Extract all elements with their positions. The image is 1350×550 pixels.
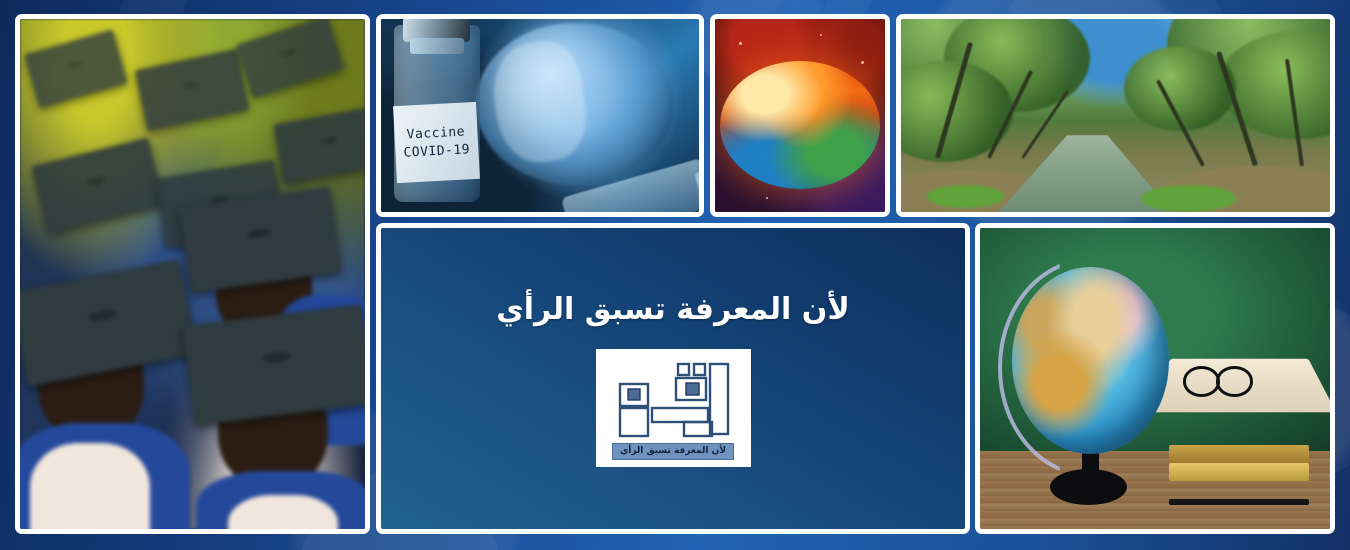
image-panel-globe-and-books[interactable] (975, 223, 1335, 534)
logo-tagline: لأن المعرفة تسبق الرأي (612, 443, 734, 460)
vial-label-line1: Vaccine (407, 124, 466, 142)
mortarboard-cap (236, 16, 345, 99)
graduation-figures (20, 19, 365, 529)
reading-glasses-icon (1183, 366, 1253, 390)
mortarboard-cap (135, 49, 250, 131)
image-panel-forest-river[interactable] (896, 14, 1335, 217)
logo-mark (614, 362, 732, 440)
logo[interactable]: لأن المعرفة تسبق الرأي (596, 349, 751, 467)
book (1169, 481, 1309, 501)
grass-patch (927, 185, 1004, 208)
brand-panel: لأن المعرفة تسبق الرأي (376, 223, 970, 534)
book-stack (1169, 439, 1309, 505)
vial-neck (410, 38, 464, 53)
image-panel-covid-vaccine[interactable]: Vaccine COVID-19 (376, 14, 704, 217)
book (1169, 445, 1309, 463)
vial-label-line2: COVID-19 (403, 142, 470, 160)
book (1169, 463, 1309, 481)
graduation-stole (228, 495, 338, 534)
page-title: لأن المعرفة تسبق الرأي (496, 290, 849, 331)
star (739, 42, 742, 45)
mortarboard-cap (24, 29, 128, 108)
grass-patch (1141, 185, 1235, 212)
image-panel-graduation[interactable] (15, 14, 370, 534)
mortarboard-cap (274, 106, 370, 183)
logo-glyph-icon (614, 362, 732, 440)
mortarboard-cap (15, 259, 198, 386)
mortarboard-cap (31, 138, 164, 235)
star (766, 197, 768, 199)
burning-earth-globe (720, 61, 880, 188)
banner-stage: Vaccine COVID-19 (0, 0, 1350, 550)
image-panel-burning-earth[interactable] (710, 14, 890, 217)
graduation-stole (30, 443, 150, 534)
book (1169, 499, 1309, 505)
mortarboard-cap (183, 304, 370, 425)
globe-neck (1082, 451, 1100, 481)
vial-label: Vaccine COVID-19 (393, 102, 480, 183)
